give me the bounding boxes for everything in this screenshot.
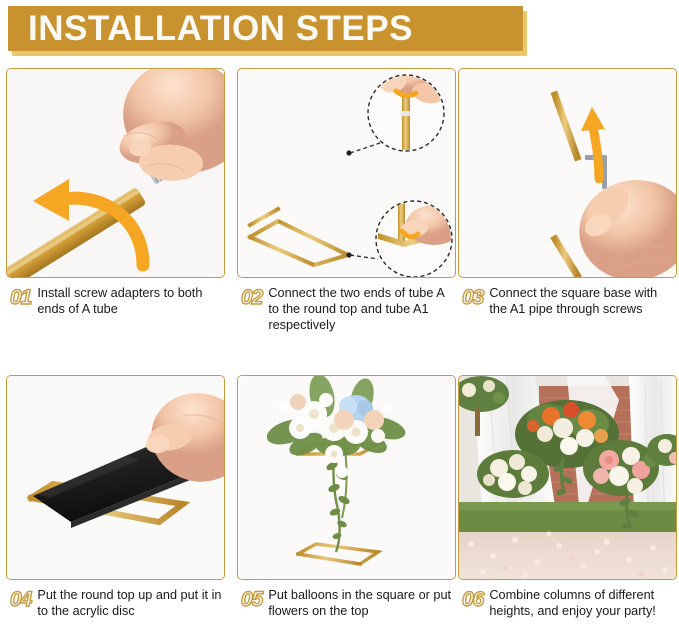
step-5-number: 05	[241, 589, 262, 610]
step-card-05: 05 Put balloons in the square or put flo…	[237, 375, 456, 620]
step-card-02: 02 Connect the two ends of tube A to the…	[237, 68, 456, 334]
step-4-caption: 04 Put the round top up and put it in to…	[6, 580, 225, 620]
page-title: INSTALLATION STEPS	[28, 11, 413, 46]
step-2-illustration	[238, 69, 456, 278]
floral-arrangement-left	[477, 450, 549, 498]
step-5-image-flower-column	[237, 375, 456, 580]
step-4-text: Put the round top up and put it in to th…	[37, 588, 223, 620]
step-6-text: Combine columns of different heights, an…	[489, 588, 675, 620]
step-card-01: 01 Install screw adapters to both ends o…	[6, 68, 225, 318]
step-6-image-wedding-scene	[458, 375, 677, 580]
step-1-caption: 01 Install screw adapters to both ends o…	[6, 278, 225, 318]
step-3-illustration	[459, 69, 677, 278]
step-5-illustration	[238, 376, 456, 580]
step-3-image-hand-tightening-screw	[458, 68, 677, 278]
step-2-number: 02	[241, 287, 262, 308]
step-1-text: Install screw adapters to both ends of A…	[37, 286, 223, 318]
step-card-06: 06 Combine columns of different heights,…	[458, 375, 677, 620]
step-6-illustration	[459, 376, 677, 580]
header-banner: INSTALLATION STEPS	[8, 6, 527, 56]
step-1-illustration	[7, 69, 225, 278]
step-4-image-placing-acrylic-disc	[6, 375, 225, 580]
steps-grid: 01 Install screw adapters to both ends o…	[0, 68, 679, 631]
step-1-image-hand-screwing-adapter	[6, 68, 225, 278]
step-3-caption: 03 Connect the square base with the A1 p…	[458, 278, 677, 318]
header-banner-fill: INSTALLATION STEPS	[8, 6, 523, 51]
step-card-04: 04 Put the round top up and put it in to…	[6, 375, 225, 620]
step-3-text: Connect the square base with the A1 pipe…	[489, 286, 675, 318]
step-6-caption: 06 Combine columns of different heights,…	[458, 580, 677, 620]
step-5-caption: 05 Put balloons in the square or put flo…	[237, 580, 456, 620]
step-card-03: 03 Connect the square base with the A1 p…	[458, 68, 677, 318]
step-6-number: 06	[462, 589, 483, 610]
step-2-caption: 02 Connect the two ends of tube A to the…	[237, 278, 456, 334]
step-2-text: Connect the two ends of tube A to the ro…	[268, 286, 454, 334]
step-5-text: Put balloons in the square or put flower…	[268, 588, 454, 620]
step-2-image-column-frame-with-callouts	[237, 68, 456, 278]
step-1-number: 01	[10, 287, 31, 308]
step-3-number: 03	[462, 287, 483, 308]
step-4-illustration	[7, 376, 225, 580]
step-4-number: 04	[10, 589, 31, 610]
